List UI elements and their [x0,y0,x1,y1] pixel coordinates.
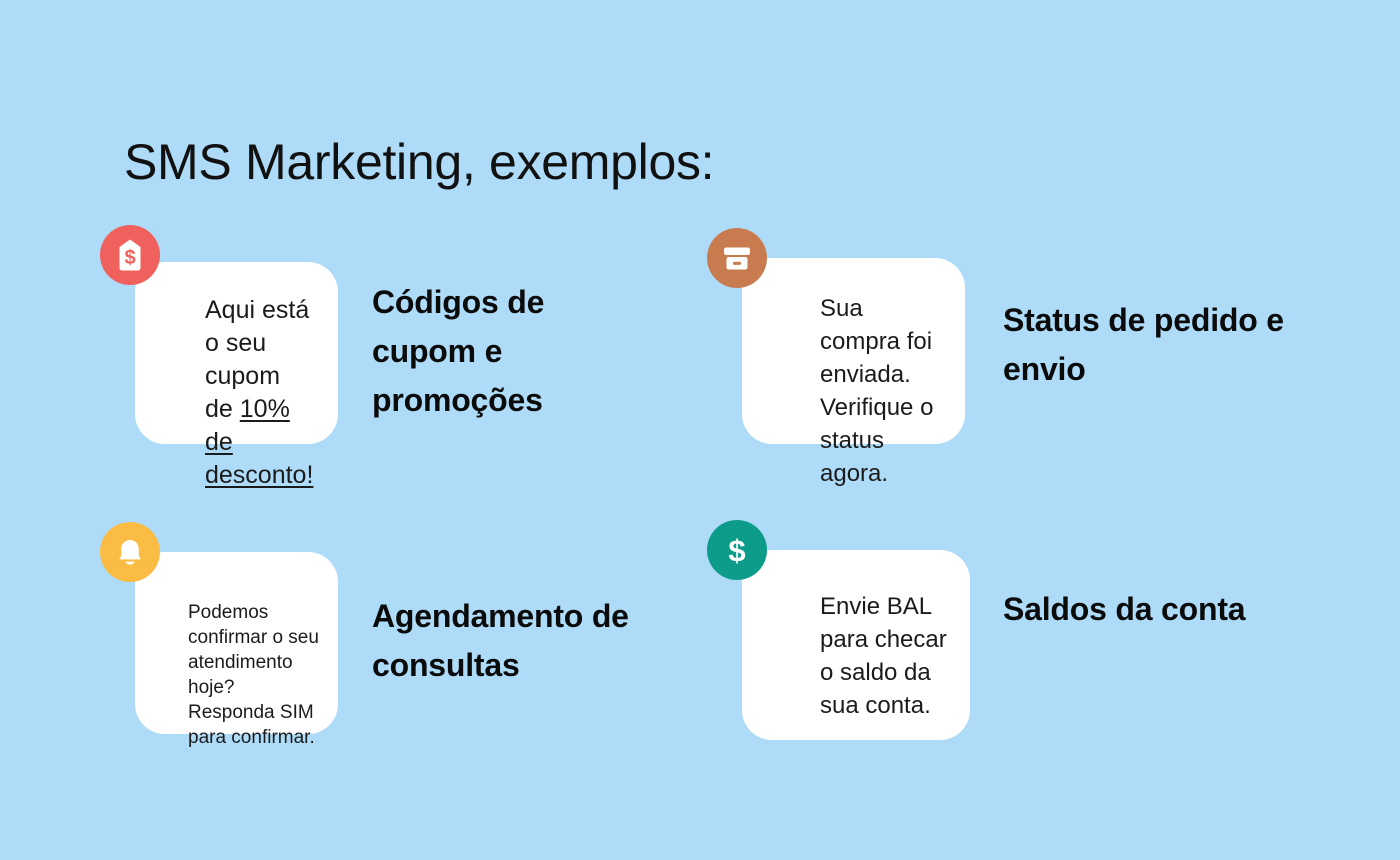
sms-message: Podemos confirmar o seu atendimento hoje… [188,600,322,750]
dollar-sign-icon: $ [707,520,767,580]
example-caption-order-status: Status de pedido e envio [1003,296,1303,394]
package-box-icon [707,228,767,288]
sms-message: Sua compra foi enviada. Verifique o stat… [820,292,943,490]
example-caption-appointment: Agendamento de consultas [372,592,662,690]
examples-grid: Aqui está o seu cupom de 10% de desconto… [0,0,1400,860]
sms-bubble: Envie BAL para checar o saldo da sua con… [742,550,970,740]
slide-canvas: SMS Marketing, exemplos: Aqui está o seu… [0,0,1400,860]
example-caption-balance: Saldos da conta [1003,585,1253,634]
example-caption-coupon: Códigos de cupom e promoções [372,278,622,425]
price-tag-dollar-icon: $ [100,225,160,285]
svg-text:$: $ [728,533,745,568]
sms-bubble: Podemos confirmar o seu atendimento hoje… [135,552,338,734]
bell-icon [100,522,160,582]
sms-bubble: Aqui está o seu cupom de 10% de desconto… [135,262,338,444]
sms-message: Aqui está o seu cupom de 10% de desconto… [205,294,312,492]
sms-message: Envie BAL para checar o saldo da sua con… [820,590,950,722]
sms-bubble: Sua compra foi enviada. Verifique o stat… [742,258,965,444]
svg-text:$: $ [124,247,135,269]
